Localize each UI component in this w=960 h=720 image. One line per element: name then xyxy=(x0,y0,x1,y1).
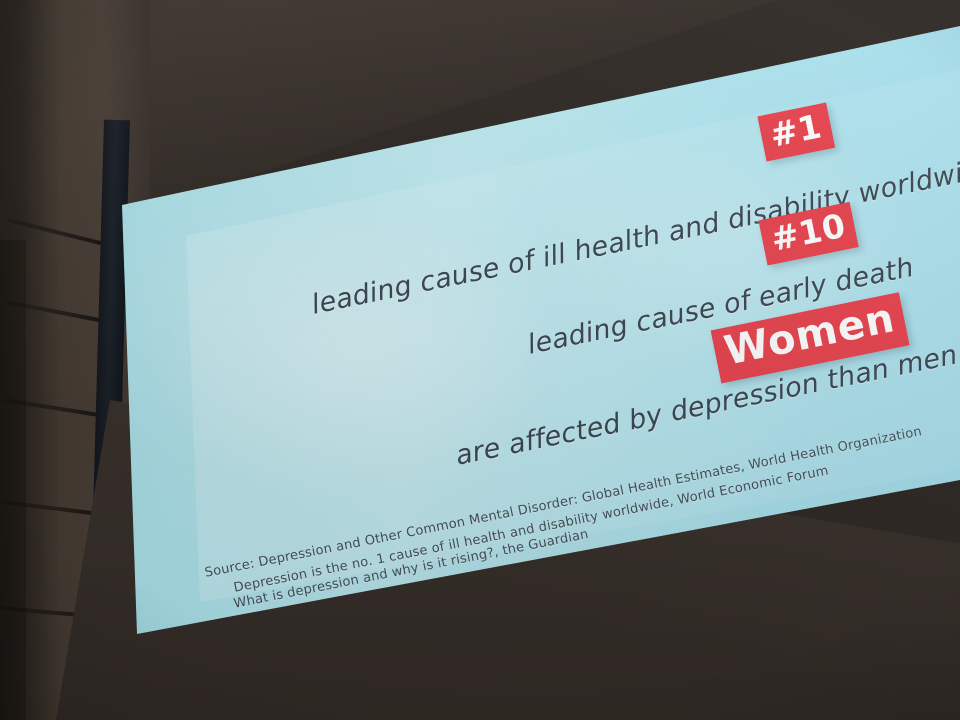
wall-left-shadow-column xyxy=(0,240,26,720)
